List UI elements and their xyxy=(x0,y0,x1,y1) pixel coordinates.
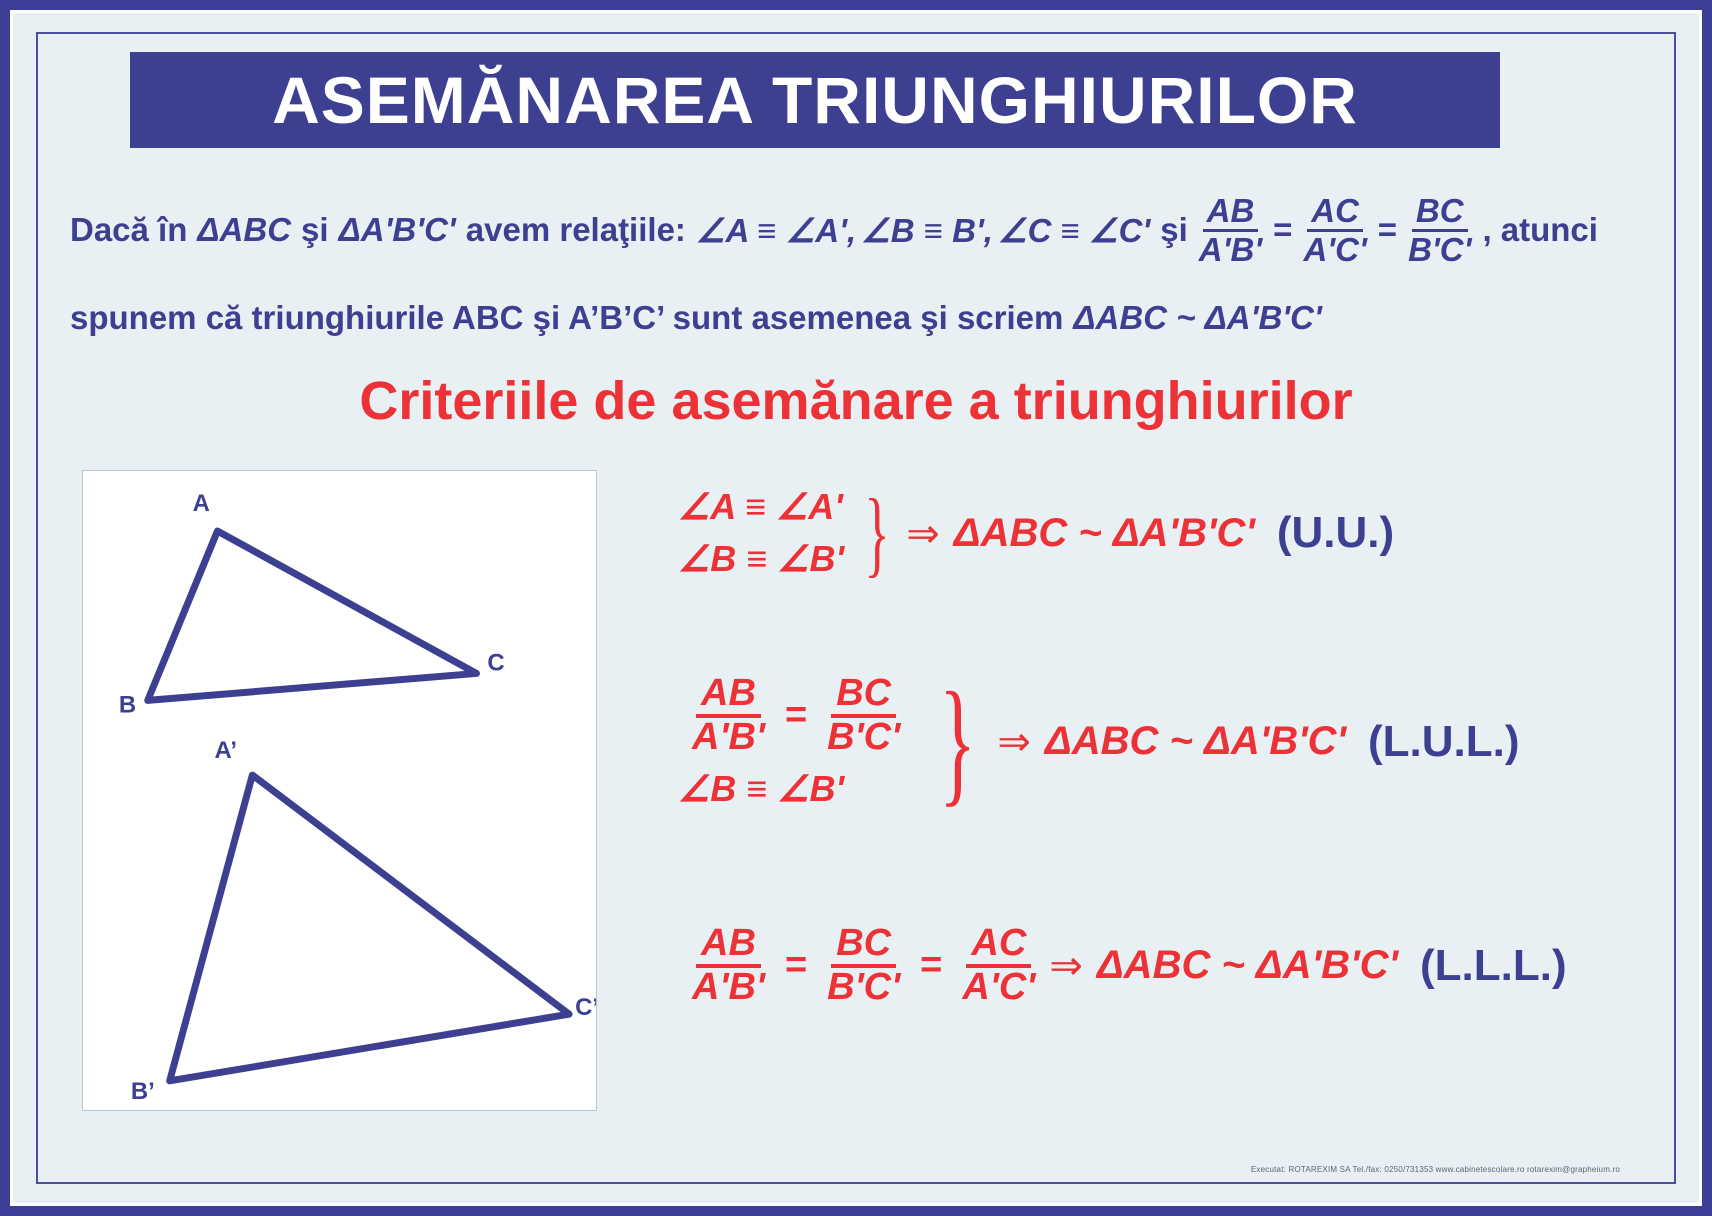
definition-line-1: Dacă în ΔABC şi ΔA'B'C' avem relaţiile: … xyxy=(70,192,1598,268)
fraction-bc-bpcp: BC B'C' xyxy=(822,924,905,1008)
definition-angle-c: ∠C ≡ ∠C' xyxy=(998,211,1150,250)
criterion-lul-proportion: AB A'B' = BC B'C' xyxy=(678,674,914,758)
triangle-abc-shape xyxy=(148,531,477,700)
definition-and: şi xyxy=(301,211,329,249)
criterion-uu-condition-2: ∠B ≡ ∠B' xyxy=(678,538,844,580)
right-brace-icon: } xyxy=(864,492,889,574)
fraction-numerator: AB xyxy=(696,924,761,968)
definition-line-2: spunem că triunghiurile ABC şi A’B’C’ su… xyxy=(70,288,1322,348)
triangles-diagram-svg: A B C A’ B’ C’ xyxy=(83,471,596,1110)
right-brace-icon: } xyxy=(939,682,976,801)
footer-strip: Executat: ROTAREXIM SA Tel./fax: 0250/73… xyxy=(64,1156,1648,1182)
definition-tail: , atunci xyxy=(1482,211,1598,249)
criterion-lll-tag: (L.L.L.) xyxy=(1420,941,1567,991)
fraction-denominator: A'C' xyxy=(1299,232,1370,268)
definition-equals-1: = xyxy=(1273,211,1292,249)
fraction-numerator: BC xyxy=(831,674,896,718)
criterion-uu-conclusion: ΔABC ~ ΔA'B'C' xyxy=(954,511,1255,556)
definition-lead: Dacă în xyxy=(70,211,187,249)
definition-fraction-ac-apcp: AC A'C' xyxy=(1299,193,1370,267)
fraction-denominator: A'B' xyxy=(687,968,770,1008)
criterion-uu-conditions: ∠A ≡ ∠A' ∠B ≡ ∠B' xyxy=(678,486,844,580)
page-title: ASEMĂNAREA TRIUNGHIURILOR xyxy=(272,62,1358,138)
criterion-uu: ∠A ≡ ∠A' ∠B ≡ ∠B' } ⇒ ΔABC ~ ΔA'B'C' (U.… xyxy=(678,486,1394,580)
fraction-denominator: B'C' xyxy=(822,968,905,1008)
vertex-label-a-prime: A’ xyxy=(214,737,237,764)
definition-triangle-abc: ΔABC xyxy=(197,211,291,249)
definition-angle-a: ∠A ≡ ∠A', xyxy=(696,211,856,250)
title-banner: ASEMĂNAREA TRIUNGHIURILOR xyxy=(130,52,1500,148)
fraction-numerator: AB xyxy=(1203,193,1259,232)
fraction-denominator: A'B' xyxy=(687,718,770,758)
equals-sign-2: = xyxy=(920,944,942,987)
vertex-label-c-prime: C’ xyxy=(575,994,596,1021)
fraction-numerator: AC xyxy=(1307,193,1363,232)
vertex-label-c: C xyxy=(487,649,504,676)
criteria-heading: Criteriile de asemănare a triunghiurilor xyxy=(38,370,1674,432)
fraction-numerator: BC xyxy=(831,924,896,968)
fraction-numerator: AC xyxy=(966,924,1031,968)
equals-sign-1: = xyxy=(785,944,807,987)
fraction-numerator: BC xyxy=(1412,193,1468,232)
definition-relations-label: avem relaţiile: xyxy=(466,211,686,249)
fraction-denominator: A'B' xyxy=(1195,232,1266,268)
implies-icon: ⇒ xyxy=(906,510,940,557)
triangle-abc-prime-shape xyxy=(170,775,569,1081)
definition-si: şi xyxy=(1160,211,1188,249)
equals-sign: = xyxy=(785,694,807,737)
implies-icon: ⇒ xyxy=(1049,942,1083,989)
criterion-lul-angle-condition: ∠B ≡ ∠B' xyxy=(678,768,914,810)
vertex-label-a: A xyxy=(193,490,210,517)
fraction-denominator: A'C' xyxy=(957,968,1040,1008)
definition-triangle-abc-prime: ΔA'B'C' xyxy=(339,211,456,249)
fraction-ac-apcp: AC A'C' xyxy=(957,924,1040,1008)
fraction-ab-apbp: AB A'B' xyxy=(687,674,770,758)
criterion-lul-conclusion: ΔABC ~ ΔA'B'C' xyxy=(1045,719,1346,764)
implies-icon: ⇒ xyxy=(997,718,1031,765)
definition-conclusion-text: spunem că triunghiurile ABC şi A’B’C’ su… xyxy=(70,299,1063,337)
criterion-lul: AB A'B' = BC B'C' ∠B ≡ ∠B' } ⇒ ΔABC ~ ΔA… xyxy=(678,674,1520,810)
definition-angle-b: ∠B ≡ B', xyxy=(861,211,993,250)
footer-credit-text: Executat: ROTAREXIM SA Tel./fax: 0250/73… xyxy=(1251,1165,1620,1174)
criterion-lll-proportion: AB A'B' = BC B'C' = AC A'C' xyxy=(678,924,1049,1008)
vertex-label-b-prime: B’ xyxy=(131,1078,155,1105)
definition-equals-2: = xyxy=(1378,211,1397,249)
poster-inner-frame: ASEMĂNAREA TRIUNGHIURILOR Dacă în ΔABC ş… xyxy=(36,32,1676,1184)
criterion-lll-conclusion: ΔABC ~ ΔA'B'C' xyxy=(1097,943,1398,988)
fraction-ab-apbp: AB A'B' xyxy=(687,924,770,1008)
criterion-lul-conditions: AB A'B' = BC B'C' ∠B ≡ ∠B' xyxy=(678,674,914,810)
triangles-diagram-panel: A B C A’ B’ C’ xyxy=(82,470,597,1111)
fraction-denominator: B'C' xyxy=(1404,232,1475,268)
definition-similarity-relation: ΔABC ~ ΔA'B'C' xyxy=(1073,299,1321,337)
fraction-denominator: B'C' xyxy=(822,718,905,758)
criterion-uu-condition-1: ∠A ≡ ∠A' xyxy=(678,486,844,528)
definition-fraction-bc-bpcp: BC B'C' xyxy=(1404,193,1475,267)
definition-fraction-ab-apbp: AB A'B' xyxy=(1195,193,1266,267)
criterion-lll: AB A'B' = BC B'C' = AC A'C' ⇒ ΔABC ~ ΔA'… xyxy=(678,924,1567,1008)
fraction-bc-bpcp: BC B'C' xyxy=(822,674,905,758)
vertex-label-b: B xyxy=(119,691,136,718)
poster-root: ASEMĂNAREA TRIUNGHIURILOR Dacă în ΔABC ş… xyxy=(0,0,1712,1216)
criterion-lul-tag: (L.U.L.) xyxy=(1368,717,1520,767)
fraction-numerator: AB xyxy=(696,674,761,718)
criterion-uu-tag: (U.U.) xyxy=(1277,508,1394,558)
